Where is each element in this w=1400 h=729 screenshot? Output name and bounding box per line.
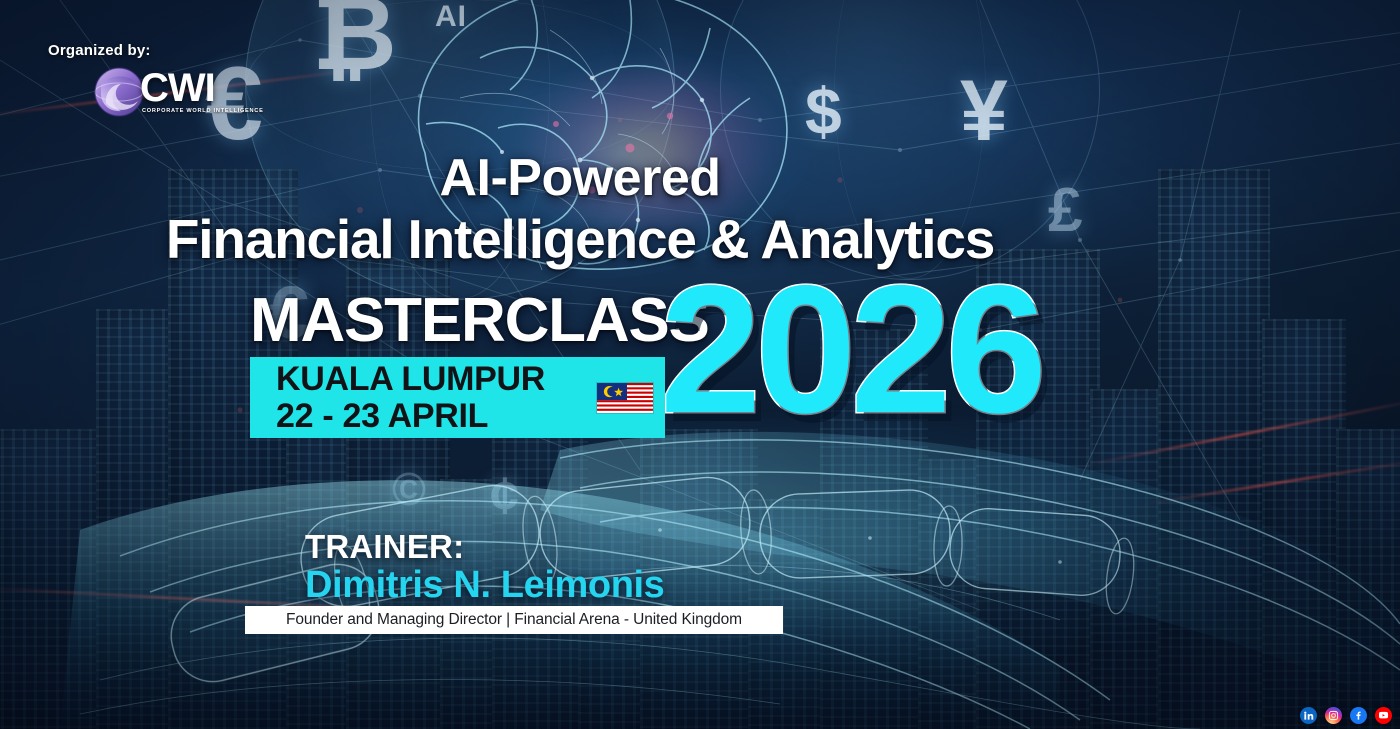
youtube-icon[interactable] [1375,707,1392,724]
event-promo-banner: ₿ AI € $ ¥ £ ¢ © € [0,0,1400,729]
organized-by-label: Organized by: [48,42,151,59]
event-dates: 22 - 23 APRIL [276,398,545,435]
cwi-logo-text: CWI [140,70,215,107]
trainer-name: Dimitris N. Leimonis [305,566,664,604]
malaysia-flag-icon [597,383,653,413]
banner-content: Organized by: [0,0,1400,729]
facebook-icon[interactable] [1350,707,1367,724]
location-date-band: KUALA LUMPUR 22 - 23 APRIL [250,357,665,438]
event-city: KUALA LUMPUR [276,361,545,398]
social-links [1300,707,1392,724]
cwi-logo: CWI CORPORATE WORLD INTELLIGENCE [92,64,264,120]
linkedin-icon[interactable] [1300,707,1317,724]
trainer-title-text: Founder and Managing Director | Financia… [286,611,742,629]
trainer-label: TRAINER: [305,530,464,563]
masterclass-label: MASTERCLASS [250,290,709,352]
instagram-icon[interactable] [1325,707,1342,724]
cwi-globe-icon [92,65,146,119]
headline-line-1: AI-Powered [0,152,1160,204]
event-year: 2026 [660,258,1041,440]
trainer-title-band: Founder and Managing Director | Financia… [245,606,783,634]
cwi-logo-tagline: CORPORATE WORLD INTELLIGENCE [142,108,264,114]
